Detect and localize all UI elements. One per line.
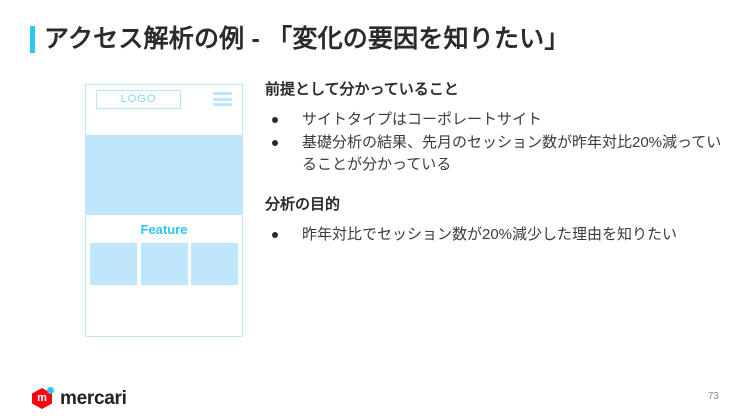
website-wireframe-mockup: LOGO Feature: [85, 84, 243, 337]
mercari-dot-icon: [47, 387, 54, 394]
bullet-dot-icon: [272, 117, 278, 123]
content-section-purpose: 分析の目的 昨年対比でセッション数が20%減少した理由を知りたい: [265, 195, 725, 246]
hamburger-bar: [213, 92, 232, 95]
wireframe-logo-box: LOGO: [96, 90, 181, 109]
list-item-text: 昨年対比でセッション数が20%減少した理由を知りたい: [302, 226, 677, 243]
bullet-dot-icon: [272, 232, 278, 238]
title-accent-bar: [30, 26, 35, 53]
wireframe-header: LOGO: [86, 85, 242, 135]
bullet-dot-icon: [272, 140, 278, 146]
wireframe-card-row: [86, 243, 242, 285]
content-section-premise: 前提として分かっていること サイトタイプはコーポレートサイト 基礎分析の結果、先…: [265, 80, 725, 176]
list-item-text: サイトタイプはコーポレートサイト: [302, 111, 542, 128]
wireframe-card: [191, 243, 238, 285]
list-item: 昨年対比でセッション数が20%減少した理由を知りたい: [265, 224, 725, 246]
page-title-text: アクセス解析の例 - 「変化の要因を知りたい」: [44, 27, 570, 52]
hamburger-bar: [213, 98, 232, 101]
wireframe-card: [90, 243, 137, 285]
bullet-list: 昨年対比でセッション数が20%減少した理由を知りたい: [265, 224, 725, 246]
page-title: アクセス解析の例 - 「変化の要因を知りたい」: [30, 24, 570, 54]
list-item: 基礎分析の結果、先月のセッション数が昨年対比20%減っていることが分かっている: [265, 132, 725, 176]
slide: アクセス解析の例 - 「変化の要因を知りたい」 LOGO Feature 前提と…: [0, 0, 747, 420]
list-item-text: 基礎分析の結果、先月のセッション数が昨年対比20%減っていることが分かっている: [302, 134, 721, 173]
hamburger-bar: [213, 103, 232, 106]
brand-logo: m mercari: [32, 387, 127, 409]
mercari-mark-icon: m: [32, 387, 53, 409]
brand-wordmark: mercari: [60, 389, 127, 408]
section-heading: 前提として分かっていること: [265, 80, 725, 100]
wireframe-hero-block: [86, 135, 242, 215]
wireframe-logo-label: LOGO: [121, 94, 157, 105]
bullet-list: サイトタイプはコーポレートサイト 基礎分析の結果、先月のセッション数が昨年対比2…: [265, 109, 725, 175]
wireframe-card: [141, 243, 188, 285]
content-column: 前提として分かっていること サイトタイプはコーポレートサイト 基礎分析の結果、先…: [265, 80, 725, 247]
wireframe-feature-heading: Feature: [86, 223, 242, 236]
section-heading: 分析の目的: [265, 195, 725, 215]
list-item: サイトタイプはコーポレートサイト: [265, 109, 725, 131]
page-number: 73: [708, 392, 719, 402]
hamburger-menu-icon: [213, 92, 232, 106]
